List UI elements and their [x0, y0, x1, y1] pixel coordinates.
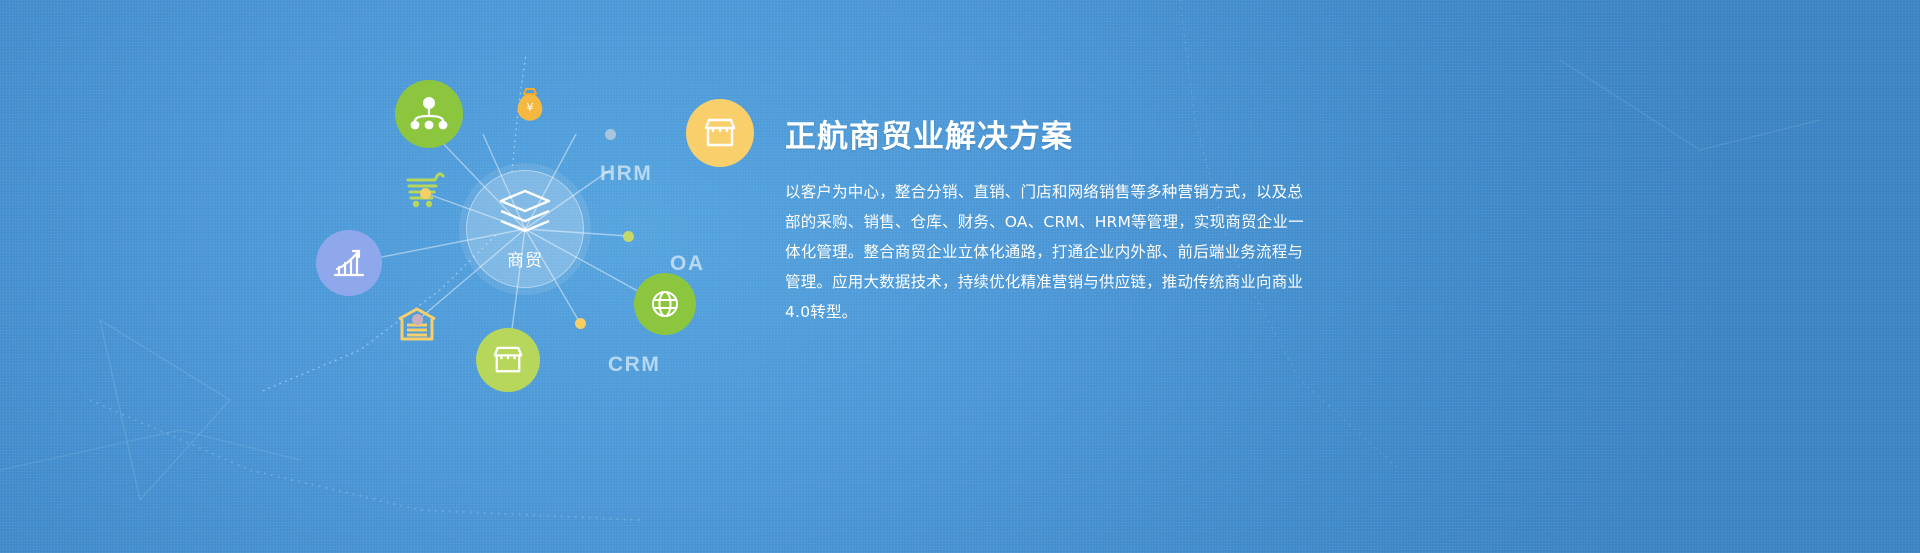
- org-chart-node[interactable]: [395, 80, 463, 148]
- money-bag-icon: ¥: [514, 86, 546, 127]
- spoke-dot: [420, 188, 431, 199]
- spoke-dot: [623, 231, 634, 242]
- solution-banner: 商贸: [0, 0, 1920, 553]
- chart-node[interactable]: [316, 230, 382, 296]
- caption-hrm: HRM: [600, 162, 652, 186]
- solution-diagram: 商贸: [240, 40, 800, 470]
- caption-crm: CRM: [608, 353, 660, 377]
- layers-icon: [497, 187, 553, 242]
- bar-chart-icon: [332, 247, 366, 279]
- org-chart-icon: [410, 97, 448, 131]
- shop-icon: [492, 345, 524, 375]
- storefront-icon: [703, 117, 737, 149]
- solution-description: 以客户为中心，整合分销、直销、门店和网络销售等多种营销方式，以及总部的采购、销售…: [785, 177, 1305, 327]
- warehouse-icon: [395, 305, 439, 348]
- spoke-dot: [575, 318, 586, 329]
- hub-label: 商贸: [507, 246, 543, 271]
- caption-oa: OA: [670, 252, 705, 276]
- page-title: 正航商贸业解决方案: [785, 118, 1305, 157]
- spoke-dot: [605, 129, 616, 140]
- globe-node[interactable]: [634, 273, 696, 335]
- spoke-dot: [412, 314, 423, 325]
- svg-text:¥: ¥: [527, 101, 534, 114]
- storefront-node[interactable]: [686, 99, 754, 167]
- solution-text-panel: 正航商贸业解决方案 以客户为中心，整合分销、直销、门店和网络销售等多种营销方式，…: [785, 118, 1305, 327]
- shop-node[interactable]: [476, 328, 540, 392]
- hub-node[interactable]: 商贸: [466, 170, 584, 288]
- globe-icon: [650, 289, 680, 319]
